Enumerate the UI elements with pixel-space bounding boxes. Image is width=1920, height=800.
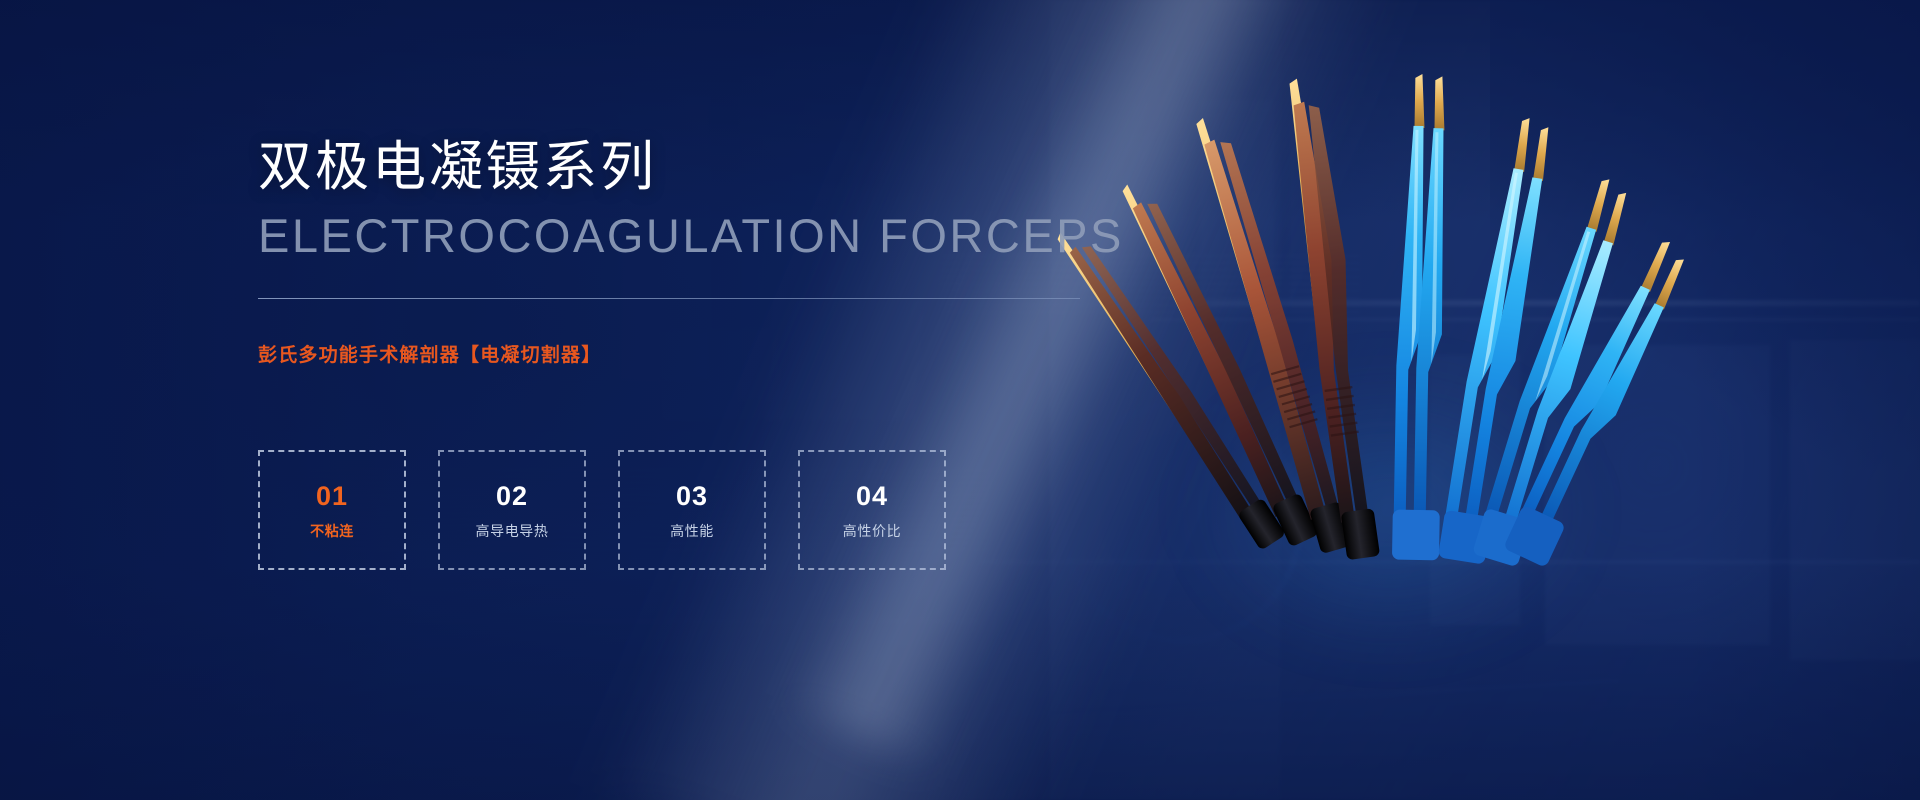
divider-rule bbox=[258, 298, 1080, 299]
feature-number: 04 bbox=[856, 483, 888, 510]
feature-list: 01 不粘连 02 高导电导热 03 高性能 04 高性价比 bbox=[258, 450, 946, 570]
feature-card-02[interactable]: 02 高导电导热 bbox=[438, 450, 586, 570]
feature-number: 02 bbox=[496, 483, 528, 510]
product-banner: 双极电凝镊系列 ELECTROCOAGULATION FORCEPS 彭氏多功能… bbox=[0, 0, 1920, 800]
feature-number: 03 bbox=[676, 483, 708, 510]
feature-label: 高性能 bbox=[670, 524, 714, 538]
banner-content: 双极电凝镊系列 ELECTROCOAGULATION FORCEPS 彭氏多功能… bbox=[0, 0, 1920, 800]
feature-card-04[interactable]: 04 高性价比 bbox=[798, 450, 946, 570]
feature-card-01[interactable]: 01 不粘连 bbox=[258, 450, 406, 570]
feature-card-03[interactable]: 03 高性能 bbox=[618, 450, 766, 570]
feature-label: 高导电导热 bbox=[476, 524, 549, 538]
feature-label: 高性价比 bbox=[843, 524, 901, 538]
feature-number: 01 bbox=[316, 483, 348, 510]
feature-label: 不粘连 bbox=[310, 524, 354, 538]
page-subtitle-en: ELECTROCOAGULATION FORCEPS bbox=[258, 212, 1124, 259]
page-title: 双极电凝镊系列 bbox=[258, 140, 657, 194]
product-tagline: 彭氏多功能手术解剖器【电凝切割器】 bbox=[258, 340, 601, 367]
